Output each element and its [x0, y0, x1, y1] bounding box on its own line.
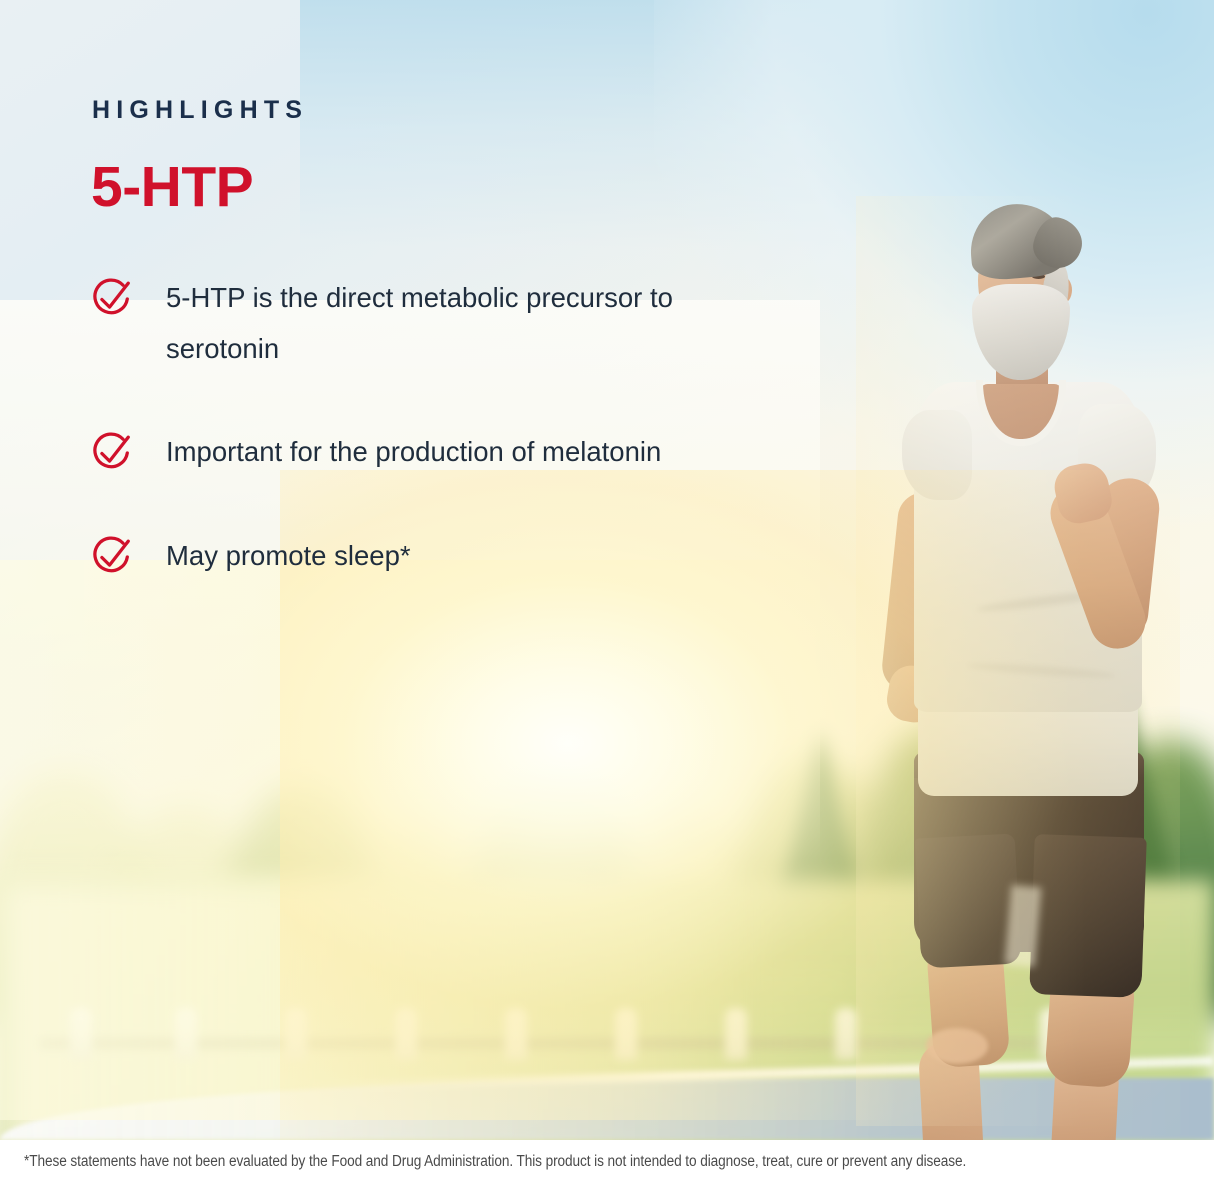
list-item-label: 5-HTP is the direct metabolic precursor … [166, 282, 673, 364]
list-item-label: Important for the production of melatoni… [166, 436, 661, 467]
list-item-label: May promote sleep* [166, 540, 411, 571]
list-item: May promote sleep* [88, 530, 728, 582]
highlights-page: HIGHLIGHTS 5-HTP 5-HTP is the direct met… [0, 0, 1214, 1192]
check-circle-icon [88, 276, 134, 322]
content-overlay: HIGHLIGHTS 5-HTP 5-HTP is the direct met… [0, 0, 1214, 1192]
eyebrow-label: HIGHLIGHTS [92, 96, 308, 125]
list-item: Important for the production of melatoni… [88, 426, 728, 478]
check-circle-icon [88, 430, 134, 476]
highlights-list: 5-HTP is the direct metabolic precursor … [88, 272, 728, 582]
page-title: 5-HTP [91, 154, 253, 220]
fda-disclaimer: *These statements have not been evaluate… [24, 1152, 1055, 1172]
list-item: 5-HTP is the direct metabolic precursor … [88, 272, 728, 374]
check-circle-icon [88, 534, 134, 580]
